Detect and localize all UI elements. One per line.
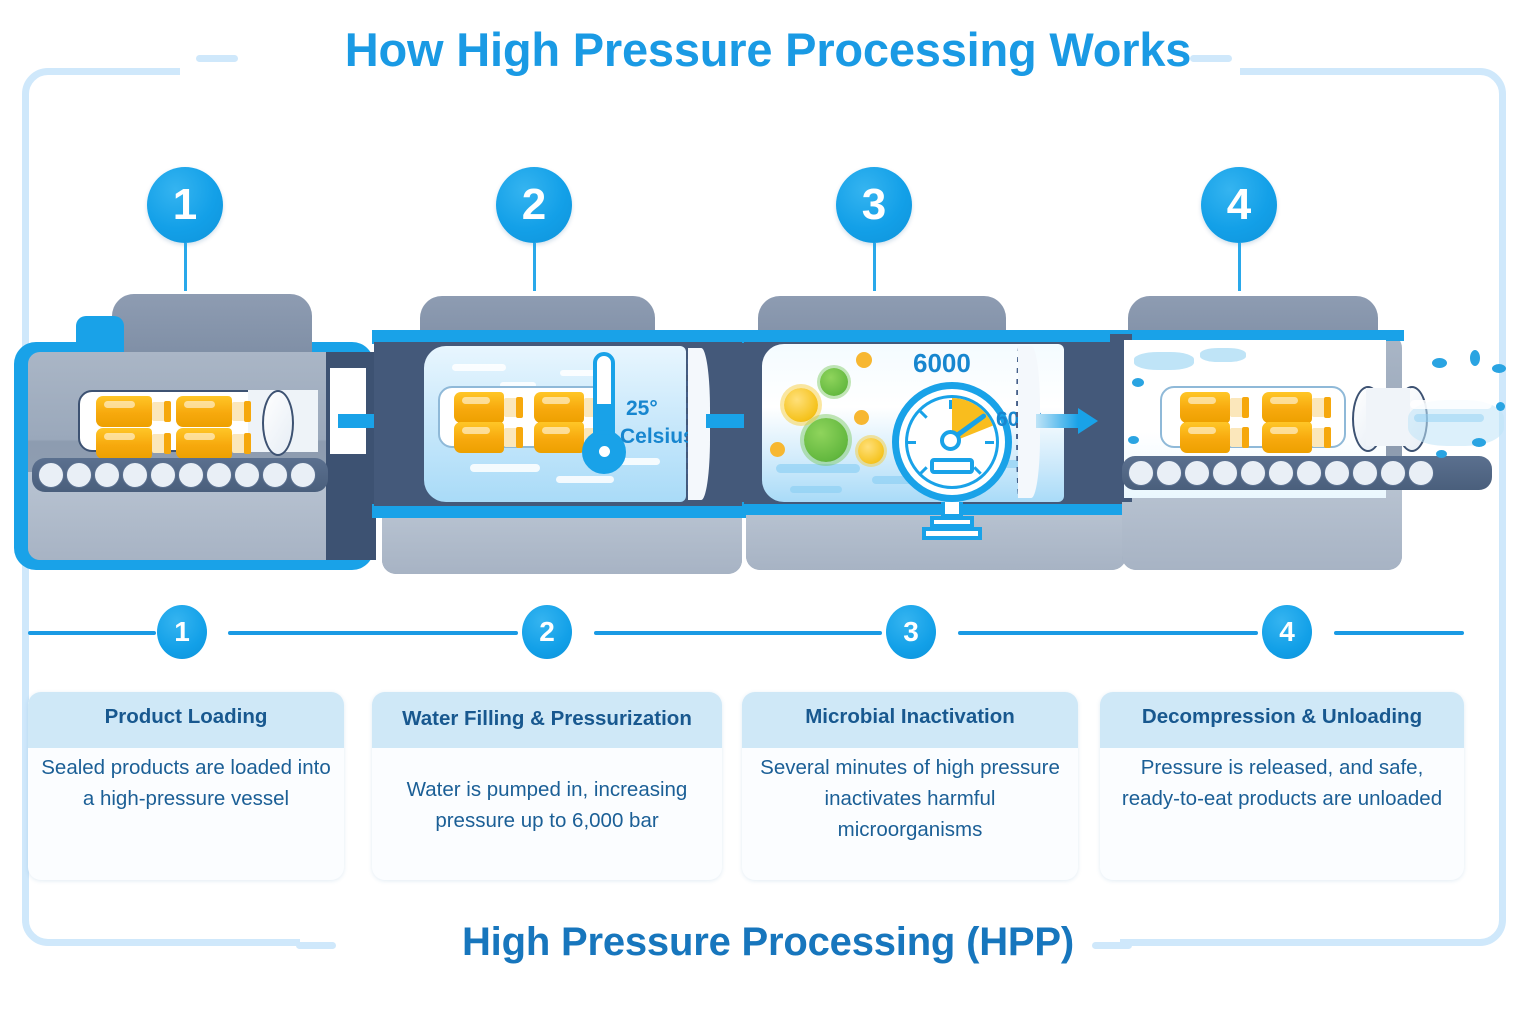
microbe-yellow-large: [784, 388, 818, 422]
microbe-dot: [770, 442, 785, 457]
roller: [1212, 460, 1238, 486]
step-card-2-body: Water is pumped in, increasing pressure …: [382, 774, 712, 836]
bottle-shine: [462, 397, 490, 404]
temperature-unit: Celsius: [620, 424, 695, 449]
water-jet: [1414, 414, 1484, 422]
step-card-1-body: Sealed products are loaded into a high-p…: [38, 752, 334, 814]
stage-timeline: 1 2 3 4: [0, 605, 1536, 659]
stage-4-lid-bridge: [1366, 388, 1410, 446]
bottle-shine: [104, 433, 135, 440]
bottle-shine: [1270, 427, 1298, 434]
hpp-machine-illustration: 25° Celsius 6000: [0, 290, 1536, 590]
arrow-shaft: [706, 414, 748, 428]
gauge-stem-base: [922, 527, 982, 540]
timeline-segment: [958, 631, 1258, 635]
stage-1-bottle-3: [176, 396, 232, 427]
timeline-segment: [228, 631, 518, 635]
roller: [122, 462, 148, 488]
step-card-4-body: Pressure is released, and safe, ready-to…: [1110, 752, 1454, 814]
gauge-hub: [940, 430, 961, 451]
bottle-cap: [1242, 427, 1249, 448]
stage-pin-2-stem: [533, 243, 536, 291]
stage-1-bottle-4: [176, 428, 232, 459]
bottle-cap: [244, 401, 251, 422]
stage-3-to-4-arrow: [1036, 408, 1098, 434]
bottle-cap: [1324, 427, 1331, 448]
roller: [262, 462, 288, 488]
residual-water: [1200, 348, 1246, 362]
bottle-shine: [1270, 397, 1298, 404]
stage-2-blue-bottom: [372, 504, 752, 518]
timeline-node-4[interactable]: 4: [1262, 605, 1312, 659]
stage-pin-4-stem: [1238, 243, 1241, 291]
microbe-dot: [856, 352, 872, 368]
stage-2-bottle-3: [534, 392, 584, 423]
footer-dash-right: [1092, 942, 1132, 949]
microbe-green-large: [804, 418, 848, 462]
gauge-mark: [907, 441, 916, 444]
stage-pin-1-stem: [184, 243, 187, 291]
stage-pin-4-number: 4: [1201, 167, 1277, 243]
microbe-green-small: [820, 368, 848, 396]
stage-2-bottle-1: [454, 392, 504, 423]
stage-pin-1-number: 1: [147, 167, 223, 243]
roller: [38, 462, 64, 488]
bottle-shine: [104, 401, 135, 408]
bottle-cap: [1242, 397, 1249, 418]
timeline-node-1[interactable]: 1: [157, 605, 207, 659]
stage-pin-3-number: 3: [836, 167, 912, 243]
water-highlight: [452, 364, 506, 371]
bottle-shine: [1188, 397, 1216, 404]
thermometer-tick: [597, 384, 606, 387]
step-card-1[interactable]: Product Loading Sealed products are load…: [28, 692, 344, 880]
water-droplet: [1492, 364, 1506, 373]
arrow-shaft: [1036, 414, 1078, 428]
timeline-segment: [594, 631, 882, 635]
bottle-shine: [184, 433, 215, 440]
bottle-cap: [164, 433, 171, 454]
thermometer-tick: [597, 376, 606, 379]
roller: [1128, 460, 1154, 486]
step-card-1-title: Product Loading: [28, 704, 344, 730]
bottle-cap: [1324, 397, 1331, 418]
stage-2-bottle-4: [534, 422, 584, 453]
roller: [290, 462, 316, 488]
microbe-dot: [854, 410, 869, 425]
step-card-4[interactable]: Decompression & Unloading Pressure is re…: [1100, 692, 1464, 880]
thermometer-icon: [582, 352, 626, 478]
bottle-cap: [516, 427, 523, 448]
water-droplet: [1432, 358, 1447, 368]
roller: [150, 462, 176, 488]
page-footer-title: High Pressure Processing (HPP): [0, 920, 1536, 965]
thermometer-tick: [597, 392, 606, 395]
water-highlight: [470, 464, 540, 472]
timeline-node-2[interactable]: 2: [522, 605, 572, 659]
stage-pin-2-number: 2: [496, 167, 572, 243]
roller: [94, 462, 120, 488]
stage-4-bottle-4: [1262, 422, 1312, 453]
roller: [206, 462, 232, 488]
stage-2-bottle-2: [454, 422, 504, 453]
bottle-shine: [184, 401, 215, 408]
step-card-3-title: Microbial Inactivation: [742, 704, 1078, 730]
step-card-2-title: Water Filling & Pressurization: [372, 706, 722, 732]
timeline-segment: [1334, 631, 1464, 635]
page-title: How High Pressure Processing Works: [0, 22, 1536, 77]
water-droplet: [1128, 436, 1139, 444]
roller: [234, 462, 260, 488]
temperature-value: 25°: [626, 396, 658, 421]
roller: [1380, 460, 1406, 486]
arrow-head: [1078, 408, 1098, 434]
bottle-shine: [542, 397, 570, 404]
microbe-yellow-small: [858, 438, 884, 464]
infographic-canvas: How High Pressure Processing Works 1 2 3…: [0, 0, 1536, 1024]
roller: [1324, 460, 1350, 486]
roller: [1268, 460, 1294, 486]
roller: [1296, 460, 1322, 486]
water-wave: [790, 486, 842, 493]
gauge-top-value: 6000: [913, 348, 971, 379]
roller: [1408, 460, 1434, 486]
bottle-shine: [462, 427, 490, 434]
roller: [1156, 460, 1182, 486]
bottle-shine: [542, 427, 570, 434]
step-card-3[interactable]: Microbial Inactivation Several minutes o…: [742, 692, 1078, 880]
step-card-2[interactable]: Water Filling & Pressurization Water is …: [372, 692, 722, 880]
stage-4-bottle-1: [1180, 392, 1230, 423]
residual-water: [1134, 352, 1194, 370]
stage-4-bottle-3: [1262, 392, 1312, 423]
water-wave: [776, 464, 860, 473]
water-droplet: [1496, 402, 1505, 411]
step-card-4-title: Decompression & Unloading: [1100, 704, 1464, 730]
bottle-shine: [1188, 427, 1216, 434]
thermometer-bulb-dot: [599, 446, 610, 457]
gauge-readout-window: [930, 458, 974, 474]
stage-1-bottle-2: [96, 428, 152, 459]
water-droplet: [1470, 350, 1480, 366]
bottle-cap: [516, 397, 523, 418]
water-droplet: [1436, 450, 1447, 458]
thermometer-tick: [597, 368, 606, 371]
bottle-cap: [244, 433, 251, 454]
step-card-3-body: Several minutes of high pressure inactiv…: [752, 752, 1068, 845]
stage-1-lid: [262, 390, 294, 456]
stage-pin-3-stem: [873, 243, 876, 291]
timeline-segment: [28, 631, 156, 635]
timeline-node-3[interactable]: 3: [886, 605, 936, 659]
roller: [1240, 460, 1266, 486]
stage-4-bottle-2: [1180, 422, 1230, 453]
roller: [66, 462, 92, 488]
gauge-mark: [949, 400, 952, 409]
roller: [178, 462, 204, 488]
water-jet: [1410, 400, 1492, 409]
water-droplet: [1132, 378, 1144, 387]
bottle-cap: [164, 401, 171, 422]
roller: [1352, 460, 1378, 486]
water-droplet: [1472, 438, 1486, 447]
stage-1-conveyor: [32, 458, 328, 492]
stage-1-bottle-1: [96, 396, 152, 427]
gauge-mark: [985, 441, 994, 444]
stage-4-conveyor: [1122, 456, 1492, 490]
roller: [1184, 460, 1210, 486]
step-cards: Product Loading Sealed products are load…: [0, 692, 1536, 887]
title-dash-right: [1190, 55, 1232, 62]
